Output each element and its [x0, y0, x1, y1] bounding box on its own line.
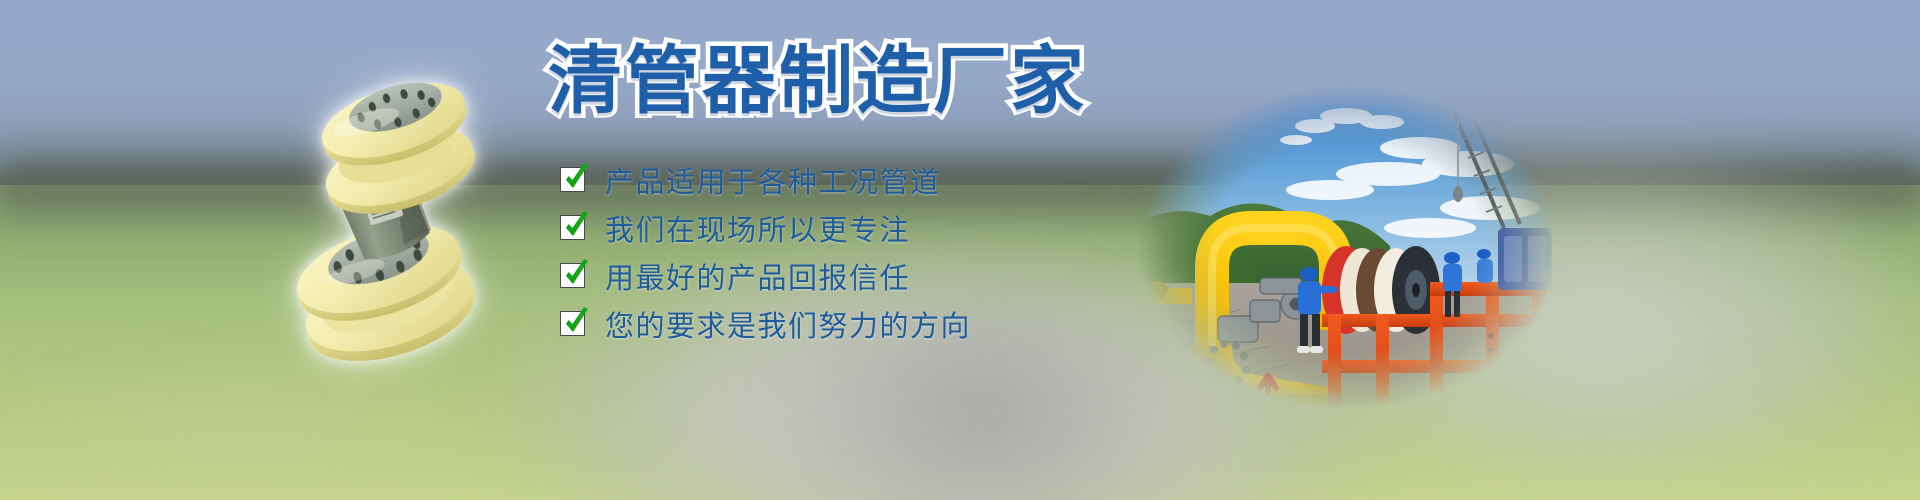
circular-photo-mask [1100, 78, 1552, 418]
list-item: 您的要求是我们努力的方向 [560, 300, 971, 347]
list-item-label: 产品适用于各种工况管道 [605, 159, 941, 201]
list-item: 我们在现场所以更专注 [560, 204, 971, 251]
check-icon [560, 311, 585, 336]
promo-banner: 清管器制造厂家 产品适用于各种工况管道 我们在现场所以更专注 [0, 0, 1920, 500]
check-icon [560, 215, 585, 240]
list-item-label: 用最好的产品回报信任 [605, 255, 910, 297]
list-item-label: 您的要求是我们努力的方向 [605, 303, 971, 345]
pipeline-station-photo [1100, 78, 1552, 418]
check-icon [560, 167, 585, 192]
list-item-label: 我们在现场所以更专注 [605, 207, 910, 249]
list-item: 产品适用于各种工况管道 [560, 156, 971, 203]
list-item: 用最好的产品回报信任 [560, 252, 971, 299]
feature-list: 产品适用于各种工况管道 我们在现场所以更专注 用最好的产品回报信任 [560, 156, 971, 348]
banner-title: 清管器制造厂家 [548, 44, 1087, 118]
check-icon [560, 263, 585, 288]
